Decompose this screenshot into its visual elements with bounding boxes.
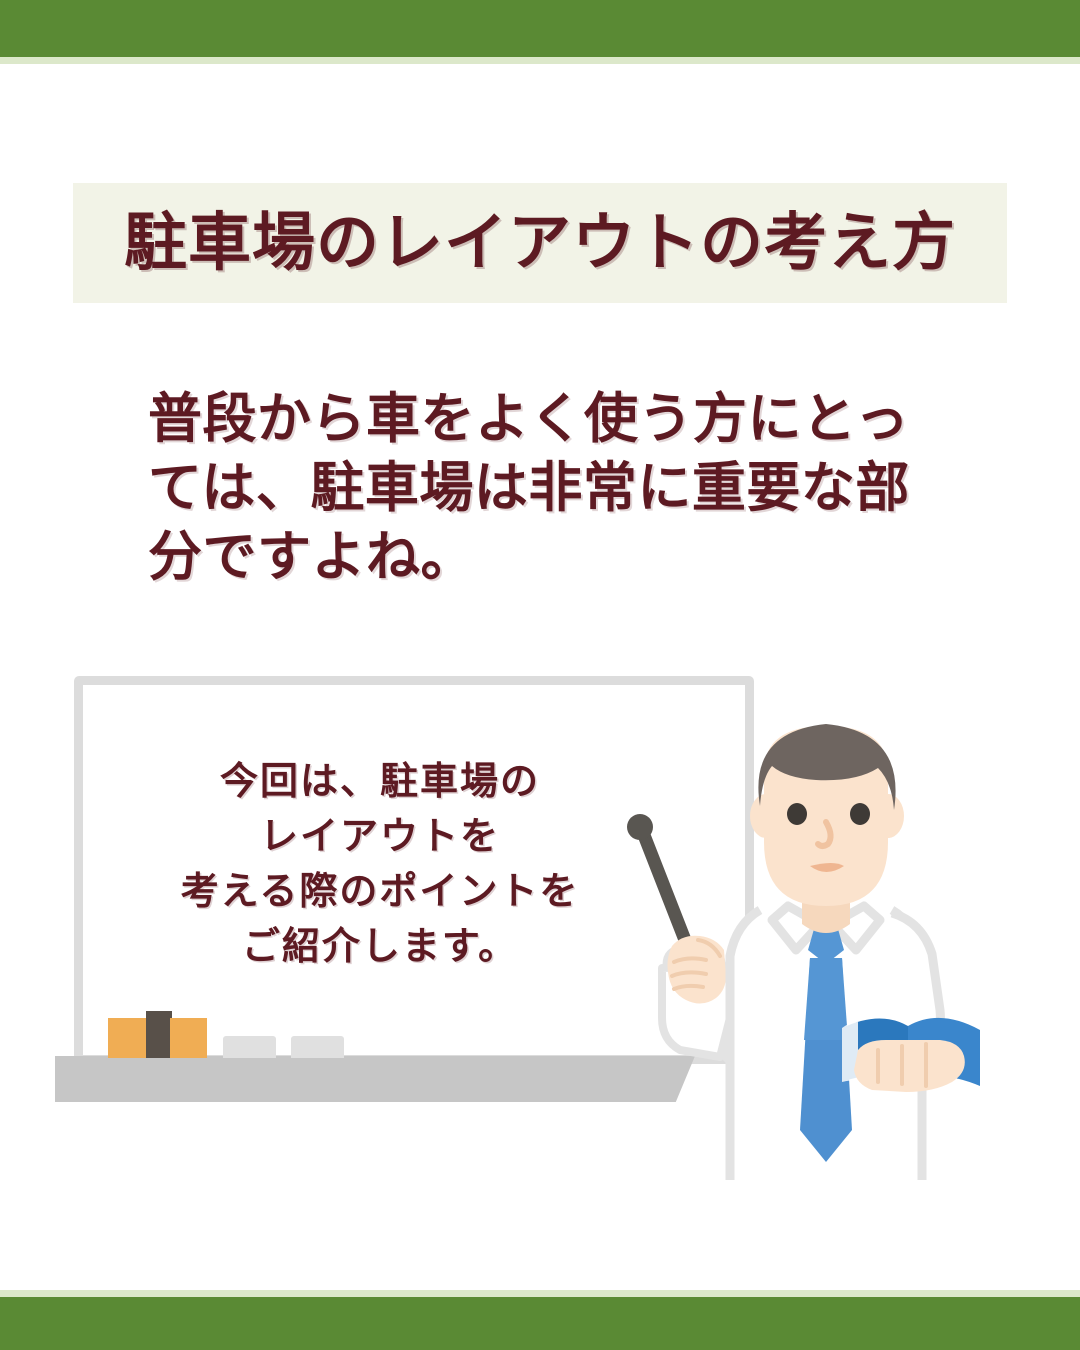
whiteboard-line-2: レイアウトを	[100, 810, 660, 865]
page-title: 駐車場のレイアウトの考え方	[124, 212, 956, 275]
whiteboard-text: 今回は、駐車場の レイアウトを 考える際のポイントを ご紹介します。	[100, 755, 660, 975]
top-green-accent-line	[0, 57, 1080, 64]
whiteboard-line-3: 考える際のポイントを	[100, 865, 660, 920]
whiteboard-line-1: 今回は、駐車場の	[100, 755, 660, 810]
right-eye	[850, 803, 870, 825]
orange-marker-box-right-icon	[170, 1018, 207, 1058]
right-hand	[854, 1040, 965, 1092]
pointer-stick-icon	[627, 814, 692, 958]
whiteboard-eraser-right-icon	[291, 1036, 344, 1058]
bottom-green-bar	[0, 1297, 1080, 1350]
top-green-bar	[0, 0, 1080, 57]
slide-canvas: 駐車場のレイアウトの考え方 普段から車をよく使う方にとっては、駐車場は非常に重要…	[0, 0, 1080, 1350]
whiteboard-line-4: ご紹介します。	[100, 920, 660, 975]
bottom-green-accent-line	[0, 1290, 1080, 1297]
left-eye	[787, 803, 807, 825]
orange-marker-box-left-icon	[108, 1018, 150, 1058]
presenter-head	[750, 724, 904, 906]
presenter-illustration	[620, 710, 1040, 1190]
whiteboard-tray	[55, 1056, 695, 1102]
whiteboard-eraser-left-icon	[223, 1036, 276, 1058]
dark-marker-icon	[146, 1011, 172, 1058]
title-band: 駐車場のレイアウトの考え方	[73, 183, 1007, 303]
body-paragraph: 普段から車をよく使う方にとっては、駐車場は非常に重要な部分ですよね。	[148, 385, 938, 592]
